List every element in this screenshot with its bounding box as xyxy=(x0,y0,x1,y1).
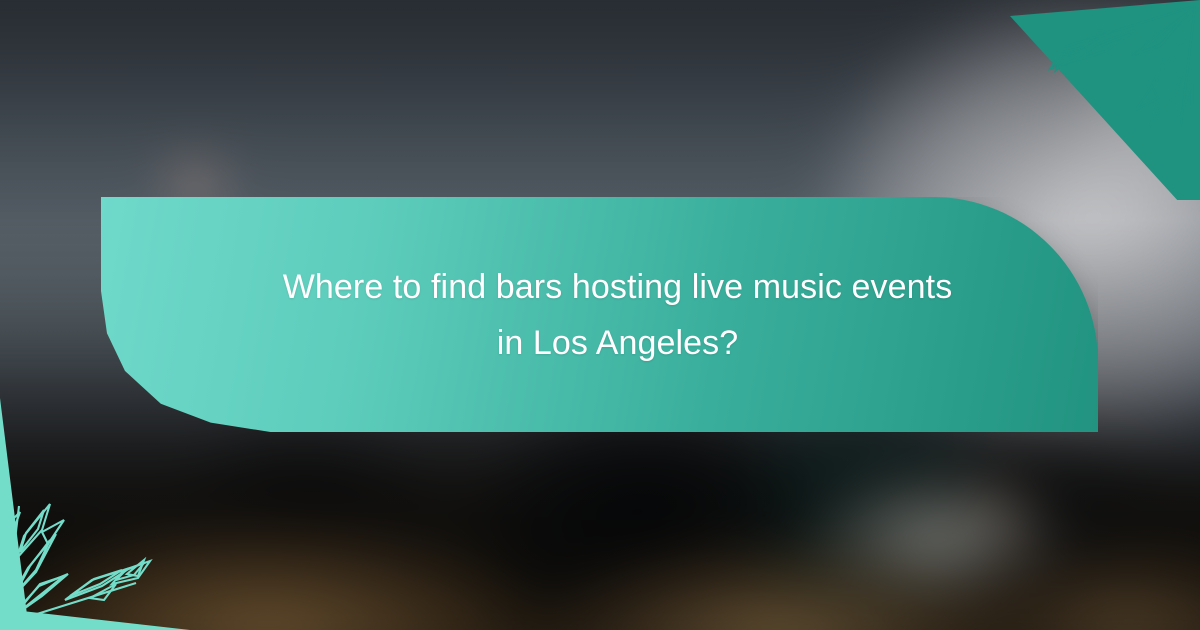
headline-text-block: Where to find bars hosting live music ev… xyxy=(182,259,1018,371)
headline-banner: Where to find bars hosting live music ev… xyxy=(101,197,1098,432)
poster-canvas: Where to find bars hosting live music ev… xyxy=(0,0,1200,630)
headline-line-1: Where to find bars hosting live music ev… xyxy=(218,259,1018,315)
headline-line-2: in Los Angeles? xyxy=(218,315,1018,371)
